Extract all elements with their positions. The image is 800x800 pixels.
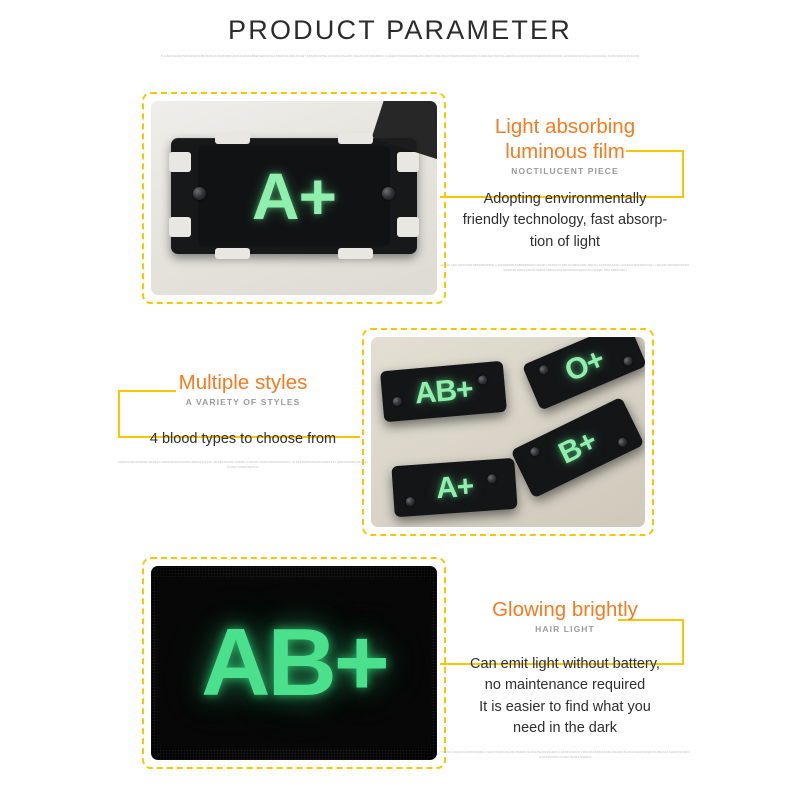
section-2-body: 4 blood types to choose from — [118, 429, 368, 450]
section-3-text: Glowing brightly HAIR LIGHT Can emit lig… — [440, 597, 690, 760]
header-microtext: TL/ASP/JGL25/IPSDKDFSHKDJBFKDJFGJLSDHKDB… — [160, 55, 640, 60]
blood-type-label: A+ — [252, 163, 336, 229]
product-photo-frame-2: AB+ O+ B+ A+ — [362, 328, 654, 536]
screw-icon — [392, 396, 402, 406]
section-3-body-line1: Can emit light without battery, — [470, 656, 660, 672]
page-title: PRODUCT PARAMETER — [0, 14, 800, 46]
product-photo-a-plus-patch: A+ — [151, 101, 437, 295]
section-3-body-line4: need in the dark — [513, 720, 617, 736]
section-1-heading-line2: luminous film — [505, 140, 625, 163]
section-1-body-line1: Adopting environmentally — [484, 191, 647, 207]
section-1-body-line2: friendly technology, fast absorp- — [463, 212, 667, 228]
screw-icon — [478, 375, 488, 385]
section-1-subheading: NOCTILUCENT PIECE — [440, 166, 690, 176]
section-3-body-line2: no maintenance required — [485, 677, 645, 693]
patch-face: AB+ — [157, 578, 432, 749]
blood-type-label: A+ — [435, 472, 474, 505]
screw-icon — [193, 187, 206, 200]
section-2-subheading: A VARIETY OF STYLES — [118, 397, 368, 407]
section-1-microtext: CLJDFLASFLSKDFNSDKHBFSMDLRSFKLA SDFMNDFM… — [440, 264, 690, 274]
section-3-subheading: HAIR LIGHT — [440, 624, 690, 634]
page-header: PRODUCT PARAMETER TL/ASP/JGL25/IPSDKDFSH… — [0, 0, 800, 60]
section-2-heading: Multiple styles — [118, 370, 368, 395]
screw-icon — [538, 364, 550, 376]
screw-icon — [530, 445, 542, 457]
product-photo-glowing-ab-plus: AB+ — [151, 566, 437, 760]
section-3-microtext: TLSKDFJ LSKDFJLSKDJFNSDKFJ LSDKFJSLDKFJS… — [440, 751, 690, 761]
screw-icon — [487, 475, 497, 485]
blood-type-patch: A+ — [171, 138, 417, 254]
section-1-body-line3: tion of light — [530, 234, 600, 250]
screw-icon — [382, 187, 395, 200]
screw-icon — [616, 436, 628, 448]
section-1-body: Adopting environmentally friendly techno… — [440, 189, 690, 253]
blood-type-patch: A+ — [391, 458, 518, 518]
product-photo-frame-3: AB+ — [142, 557, 446, 769]
section-1-heading: Light absorbing luminous film — [440, 114, 690, 164]
screw-icon — [406, 497, 416, 507]
section-3-body: Can emit light without battery, no maint… — [440, 654, 690, 740]
blood-type-label: AB+ — [413, 374, 473, 409]
patch-face: A+ — [198, 146, 390, 246]
blood-type-label: AB+ — [201, 615, 387, 711]
product-photo-frame-1: A+ — [142, 92, 446, 304]
section-1-heading-line1: Light absorbing — [495, 115, 635, 138]
blood-type-patch: B+ — [511, 396, 645, 498]
blood-type-patch: AB+ — [380, 360, 507, 422]
blood-type-label: O+ — [561, 344, 608, 387]
blood-type-patch: O+ — [522, 337, 645, 411]
screw-icon — [622, 355, 634, 367]
section-3-heading: Glowing brightly — [440, 597, 690, 622]
section-1-text: Light absorbing luminous film NOCTILUCEN… — [440, 114, 690, 274]
section-3-body-line3: It is easier to find what you — [479, 699, 651, 715]
blood-type-label: B+ — [555, 426, 602, 469]
section-2-text: Multiple styles A VARIETY OF STYLES 4 bl… — [118, 370, 368, 471]
section-2-microtext: SLKDFJLSKDJFNSDKFJSLDKFJ LSDKFNSLDKFJSLD… — [118, 461, 368, 471]
product-photo-four-patches: AB+ O+ B+ A+ — [371, 337, 645, 527]
